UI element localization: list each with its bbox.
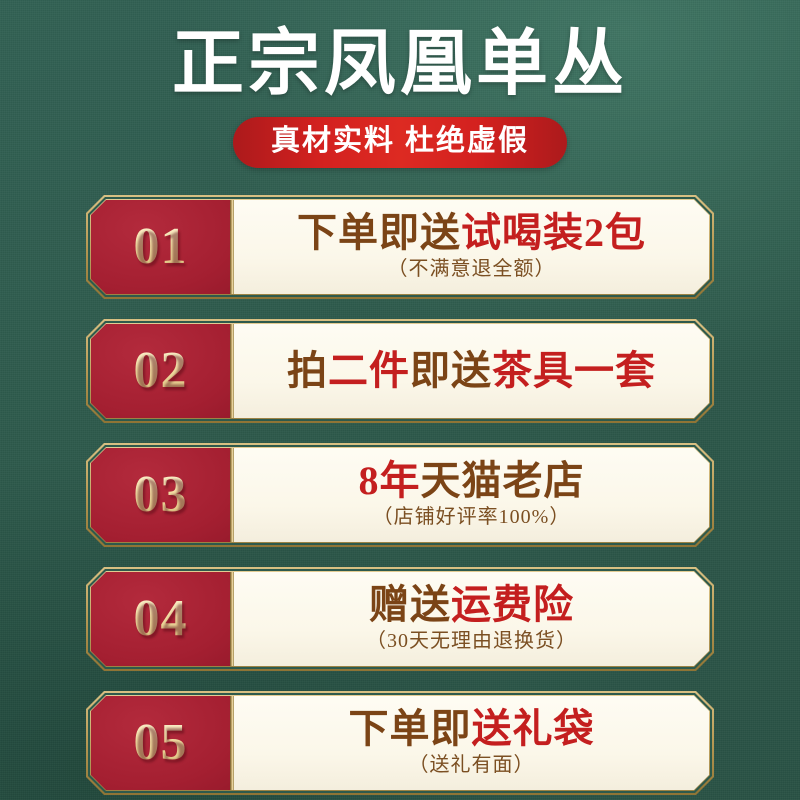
benefit-subnote: （店铺好评率100%） — [373, 506, 571, 528]
headline-segment: 送礼袋 — [472, 706, 595, 751]
benefit-row: 02拍二件即送茶具一套 — [86, 319, 714, 423]
row-frame-inner: 02拍二件即送茶具一套 — [88, 321, 712, 421]
benefit-subnote: （不满意退全额） — [388, 258, 556, 280]
headline-segment: 下单即送 — [297, 210, 461, 255]
benefit-headline: 赠送运费险 — [369, 584, 574, 626]
benefit-number: 01 — [134, 221, 188, 273]
headline-segment: 茶具一套 — [492, 348, 656, 393]
headline-segment: 拍 — [287, 348, 328, 393]
benefit-text-panel: 下单即送试喝装2包（不满意退全额） — [234, 200, 709, 294]
status-badge: 真材实料 杜绝虚假 — [233, 117, 567, 168]
benefit-subnote: （30天无理由退换货） — [366, 630, 577, 652]
page-title: 正宗凤凰单丛 — [0, 0, 800, 105]
benefit-text-panel: 8年天猫老店（店铺好评率100%） — [234, 448, 709, 542]
benefit-list: 01下单即送试喝装2包（不满意退全额）02拍二件即送茶具一套038年天猫老店（店… — [86, 195, 714, 800]
headline-segment: 赠送 — [369, 582, 451, 627]
gold-divider — [230, 572, 234, 666]
benefit-row: 01下单即送试喝装2包（不满意退全额） — [86, 195, 714, 299]
benefit-text-panel: 赠送运费险（30天无理由退换货） — [234, 572, 709, 666]
promo-banner: 正宗凤凰单丛 真材实料 杜绝虚假 01下单即送试喝装2包（不满意退全额）02拍二… — [0, 0, 800, 800]
row-frame-face: 01下单即送试喝装2包（不满意退全额） — [90, 199, 710, 295]
benefit-number-block: 03 — [91, 448, 230, 542]
gold-divider — [230, 324, 234, 418]
benefit-row: 05下单即送礼袋（送礼有面） — [86, 691, 714, 795]
row-frame-face: 02拍二件即送茶具一套 — [90, 323, 710, 419]
headline-segment: 二件 — [328, 348, 410, 393]
row-frame-inner: 05下单即送礼袋（送礼有面） — [88, 693, 712, 793]
benefit-text-panel: 下单即送礼袋（送礼有面） — [234, 696, 709, 790]
row-frame-face: 038年天猫老店（店铺好评率100%） — [90, 447, 710, 543]
gold-divider — [230, 200, 234, 294]
benefit-number: 04 — [134, 593, 188, 645]
row-frame-inner: 038年天猫老店（店铺好评率100%） — [88, 445, 712, 545]
benefit-headline: 8年天猫老店 — [359, 460, 585, 502]
benefit-number: 02 — [134, 345, 188, 397]
gold-divider — [230, 696, 234, 790]
headline-segment: 下单即 — [349, 706, 472, 751]
benefit-row: 04赠送运费险（30天无理由退换货） — [86, 567, 714, 671]
row-frame-face: 04赠送运费险（30天无理由退换货） — [90, 571, 710, 667]
benefit-number-block: 01 — [91, 200, 230, 294]
row-frame-inner: 01下单即送试喝装2包（不满意退全额） — [88, 197, 712, 297]
row-frame-inner: 04赠送运费险（30天无理由退换货） — [88, 569, 712, 669]
benefit-number-block: 05 — [91, 696, 230, 790]
benefit-headline: 拍二件即送茶具一套 — [287, 350, 656, 392]
badge-label: 真材实料 杜绝虚假 — [271, 125, 529, 157]
benefit-subnote: （送礼有面） — [409, 754, 535, 776]
headline-segment: 试喝装2包 — [461, 210, 646, 255]
benefit-text-panel: 拍二件即送茶具一套 — [234, 324, 709, 418]
headline-segment: 8年 — [359, 458, 421, 503]
banner-header: 正宗凤凰单丛 真材实料 杜绝虚假 — [0, 0, 800, 168]
headline-segment: 即送 — [410, 348, 492, 393]
headline-segment: 运费险 — [451, 582, 574, 627]
benefit-number: 03 — [134, 469, 188, 521]
benefit-headline: 下单即送试喝装2包 — [297, 212, 646, 254]
benefit-headline: 下单即送礼袋 — [349, 708, 595, 750]
headline-segment: 天猫老店 — [421, 458, 585, 503]
row-frame-face: 05下单即送礼袋（送礼有面） — [90, 695, 710, 791]
gold-divider — [230, 448, 234, 542]
benefit-number: 05 — [134, 717, 188, 769]
benefit-number-block: 02 — [91, 324, 230, 418]
benefit-number-block: 04 — [91, 572, 230, 666]
benefit-row: 038年天猫老店（店铺好评率100%） — [86, 443, 714, 547]
